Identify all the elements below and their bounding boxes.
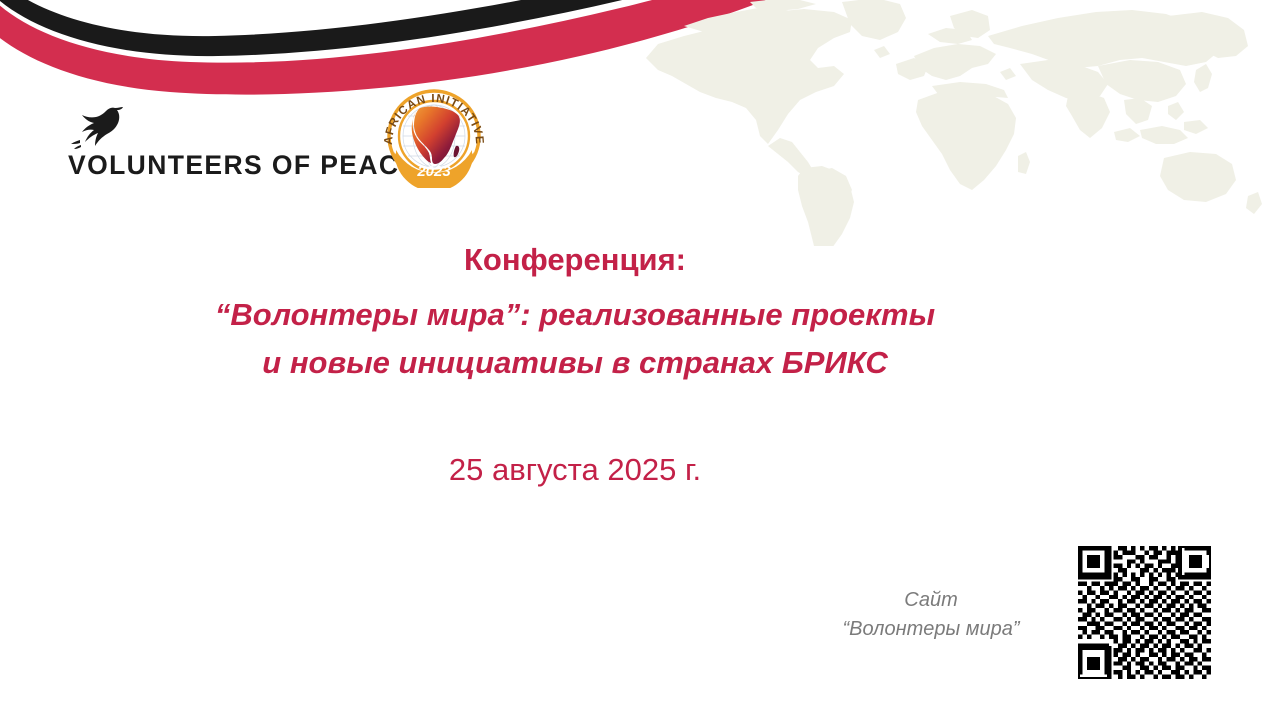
volunteers-of-peace-wordmark: VOLUNTEERS OF PEACE <box>68 152 419 179</box>
site-caption-line-1: Сайт <box>806 586 1056 615</box>
volunteers-of-peace-logo: VOLUNTEERS OF PEACE <box>68 104 353 190</box>
qr-code[interactable] <box>1078 546 1211 679</box>
title-line-1: Конференция: <box>0 244 1150 275</box>
qr-code-image[interactable] <box>1078 546 1211 679</box>
presentation-slide: VOLUNTEERS OF PEACE <box>0 0 1273 716</box>
african-initiative-logo: AFRICAN INITIATIVE 2023 <box>372 84 496 188</box>
conference-date: 25 августа 2025 г. <box>0 452 1150 488</box>
decorative-swoosh-graphic <box>0 0 1273 120</box>
dove-icon <box>68 104 124 150</box>
conference-title-block: Конференция: “Волонтеры мира”: реализова… <box>0 244 1150 387</box>
swoosh-black <box>0 0 672 56</box>
title-line-2: “Волонтеры мира”: реализованные проекты <box>0 291 1150 339</box>
site-caption: Сайт “Волонтеры мира” <box>806 586 1056 644</box>
world-map-watermark <box>628 0 1273 246</box>
site-caption-line-2: “Волонтеры мира” <box>806 615 1056 644</box>
title-line-3: и новые инициативы в странах БРИКС <box>0 339 1150 387</box>
logo-year-text: 2023 <box>416 163 451 180</box>
swoosh-red <box>0 0 790 95</box>
